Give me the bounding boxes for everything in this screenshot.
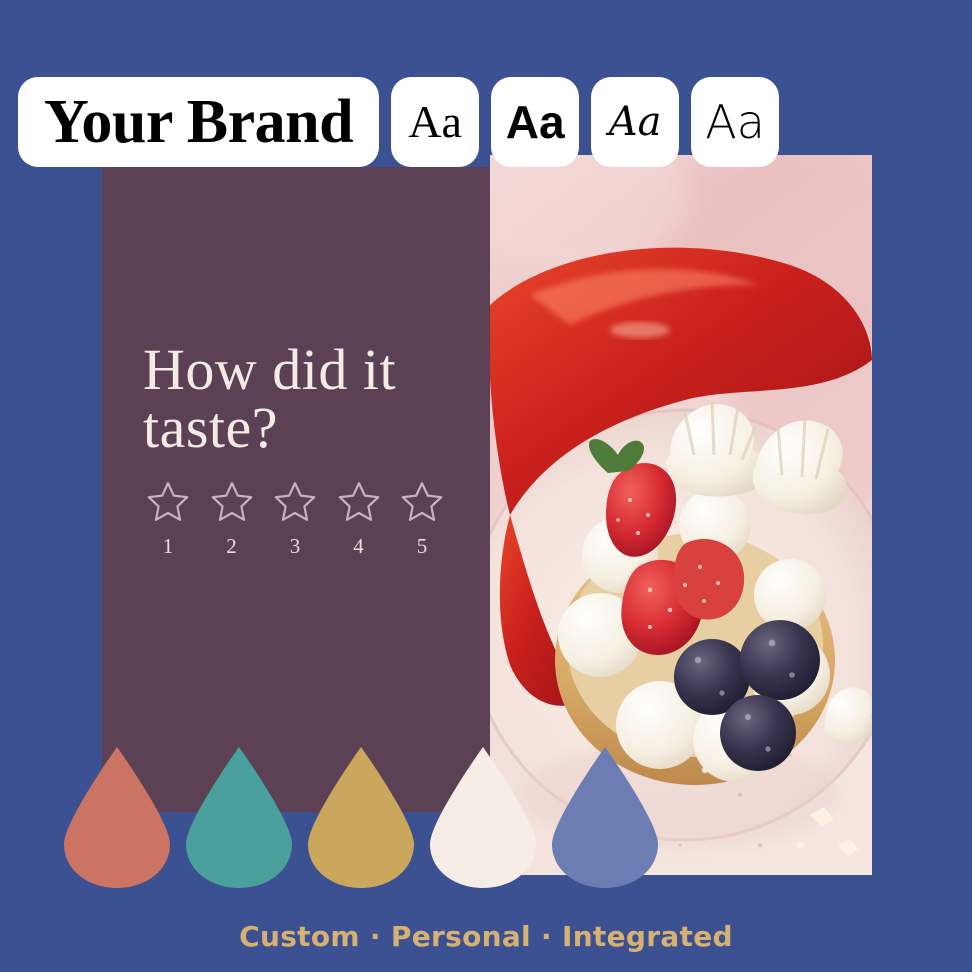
star-rating-label-3: 3 bbox=[290, 534, 301, 559]
droplet-icon bbox=[550, 745, 660, 890]
star-rating-label-5: 5 bbox=[417, 534, 428, 559]
star-rating[interactable]: 1 2 3 4 5 bbox=[140, 478, 450, 559]
droplet-icon bbox=[62, 745, 172, 890]
brand-tagline: Custom · Personal · Integrated bbox=[0, 920, 972, 953]
color-swatch-gold[interactable] bbox=[306, 745, 416, 890]
droplet-icon bbox=[184, 745, 294, 890]
star-rating-option-1[interactable]: 1 bbox=[140, 478, 196, 559]
font-sample-script[interactable]: Aa bbox=[591, 77, 679, 167]
star-rating-option-5[interactable]: 5 bbox=[394, 478, 450, 559]
star-icon bbox=[270, 478, 320, 526]
brand-chip-row: Your Brand Aa Aa Aa Aa bbox=[18, 77, 779, 167]
droplet-icon bbox=[306, 745, 416, 890]
font-sample-sans-bold[interactable]: Aa bbox=[491, 77, 579, 167]
card-headline: How did it taste? bbox=[143, 341, 463, 457]
color-swatch-cream[interactable] bbox=[428, 745, 538, 890]
color-swatch-periwinkle[interactable] bbox=[550, 745, 660, 890]
star-icon bbox=[334, 478, 384, 526]
color-swatch-coral[interactable] bbox=[62, 745, 172, 890]
star-rating-option-4[interactable]: 4 bbox=[331, 478, 387, 559]
star-icon bbox=[397, 478, 447, 526]
color-swatch-teal[interactable] bbox=[184, 745, 294, 890]
star-rating-label-4: 4 bbox=[353, 534, 364, 559]
color-palette bbox=[62, 745, 660, 890]
font-sample-serif[interactable]: Aa bbox=[391, 77, 479, 167]
star-rating-label-2: 2 bbox=[226, 534, 237, 559]
font-sample-sans-light[interactable]: Aa bbox=[691, 77, 779, 167]
brand-name-chip[interactable]: Your Brand bbox=[18, 77, 379, 167]
droplet-icon bbox=[428, 745, 538, 890]
star-icon bbox=[207, 478, 257, 526]
star-rating-option-3[interactable]: 3 bbox=[267, 478, 323, 559]
star-rating-option-2[interactable]: 2 bbox=[204, 478, 260, 559]
star-rating-label-1: 1 bbox=[163, 534, 174, 559]
star-icon bbox=[143, 478, 193, 526]
brand-kit-canvas: Your Brand Aa Aa Aa Aa How did it taste?… bbox=[0, 0, 972, 972]
